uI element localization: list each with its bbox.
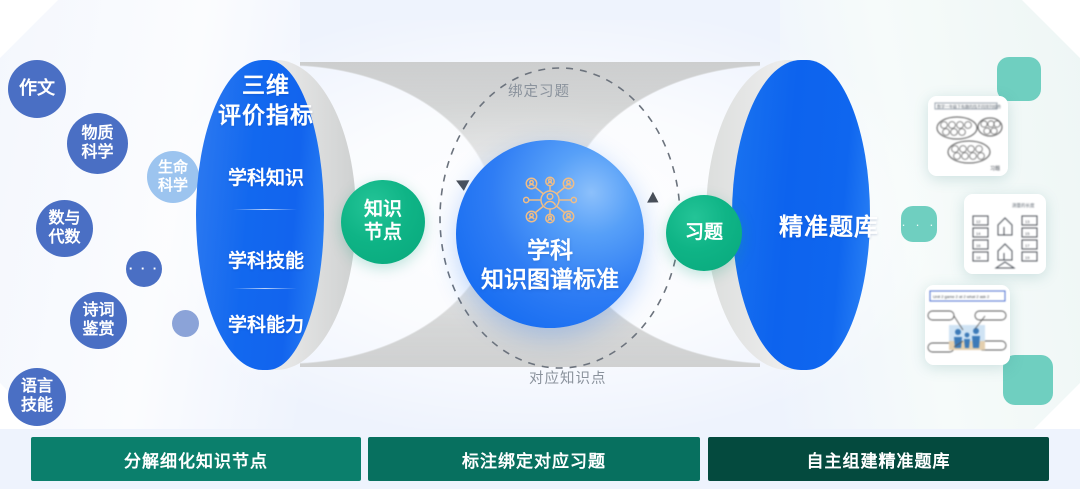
svg-text:14: 14 [976,231,981,236]
knowledge-graph-standard-sphere[interactable]: 学科知识图谱标准 [456,140,644,328]
worksheet-thumb-counting-art: 数学一年级下有趣的找不同排列组合 习题 [928,96,1008,176]
exercise-node-label: 习题 [685,222,723,245]
worksheet-thumb-dialogue-art: Unit 2 game 2 at 2 what 2 ask 2 [925,285,1010,365]
svg-text:12: 12 [976,219,981,224]
exercise-node-badge[interactable]: 习题 [666,195,742,271]
corner-wedge-top-right [1022,0,1080,58]
step-bar-build-bank-label: 自主组建精准题库 [807,447,951,472]
sphere-title: 学科知识图谱标准 [481,236,619,294]
steps-strip: 分解细化知识节点 标注绑定对应习题 自主组建精准题库 [0,429,1080,489]
decor-bubble-6 [172,310,199,337]
worksheet-thumb-counting[interactable]: 数学一年级下有趣的找不同排列组合 习题 [928,96,1008,176]
subject-bubble-4[interactable]: · · · [126,251,162,287]
svg-text:19: 19 [1025,255,1030,260]
worksheet-thumb-shapes[interactable]: 测量的长度 12141618 13151719 [964,194,1046,274]
knowledge-graph-people-icon [523,175,577,230]
svg-text:13: 13 [1025,219,1030,224]
subject-bubble-2[interactable]: 生命科学 [147,151,199,203]
svg-text:习题: 习题 [990,166,1000,172]
right-dots-square[interactable]: · · · [901,206,937,242]
worksheet-thumb-dialogue[interactable]: Unit 2 game 2 at 2 what 2 ask 2 [925,285,1010,365]
metric-divider-2 [233,288,297,289]
subject-bubble-3[interactable]: 数与代数 [36,200,93,257]
step-bar-decompose[interactable]: 分解细化知识节点 [31,437,361,481]
svg-text:数学一年级下有趣的找不同排列组合: 数学一年级下有趣的找不同排列组合 [937,103,1001,109]
worksheet-thumb-shapes-art: 测量的长度 12141618 13151719 [964,194,1046,274]
knowledge-node-badge[interactable]: 知识节点 [341,180,425,264]
metric-divider-1 [233,209,297,210]
metric-subject-skill: 学科技能 [196,246,336,273]
subject-bubble-5[interactable]: 诗词鉴赏 [70,292,127,349]
step-bar-annotate-label: 标注绑定对应习题 [462,447,606,472]
orbit-label-bind-exercise: 绑定习题 [508,80,570,101]
metric-subject-ability: 学科能力 [196,310,336,337]
metric-subject-knowledge: 学科知识 [196,163,336,190]
right-dots-label: · · · [901,217,936,232]
question-bank-title: 精准题库 [764,212,894,244]
subject-bubble-7[interactable]: 语言技能 [8,368,66,426]
teal-square-bottom [1003,355,1053,405]
infographic-canvas: 作文物质科学生命科学数与代数· · ·诗词鉴赏语言技能 三维评价指标 学科知识 … [0,0,1080,489]
step-bar-annotate[interactable]: 标注绑定对应习题 [368,437,700,481]
subject-bubble-1[interactable]: 物质科学 [67,113,128,174]
step-bar-build-bank[interactable]: 自主组建精准题库 [708,437,1049,481]
corner-wedge-top-left [0,0,58,58]
svg-text:15: 15 [1025,231,1030,236]
svg-text:Unit 2 game 2 at 2 what 2 ask: Unit 2 game 2 at 2 what 2 ask 2 [933,294,990,299]
step-bar-decompose-label: 分解细化知识节点 [124,447,268,472]
svg-text:16: 16 [976,243,981,248]
svg-text:17: 17 [1025,243,1030,248]
svg-text:18: 18 [976,255,981,260]
teal-square-top [997,57,1041,101]
orbit-label-match-knowledge: 对应知识点 [529,367,607,388]
knowledge-node-label: 知识节点 [364,199,402,245]
subject-bubble-0[interactable]: 作文 [8,60,66,118]
svg-text:测量的长度: 测量的长度 [1012,202,1035,209]
three-dimension-title: 三维评价指标 [200,70,332,131]
